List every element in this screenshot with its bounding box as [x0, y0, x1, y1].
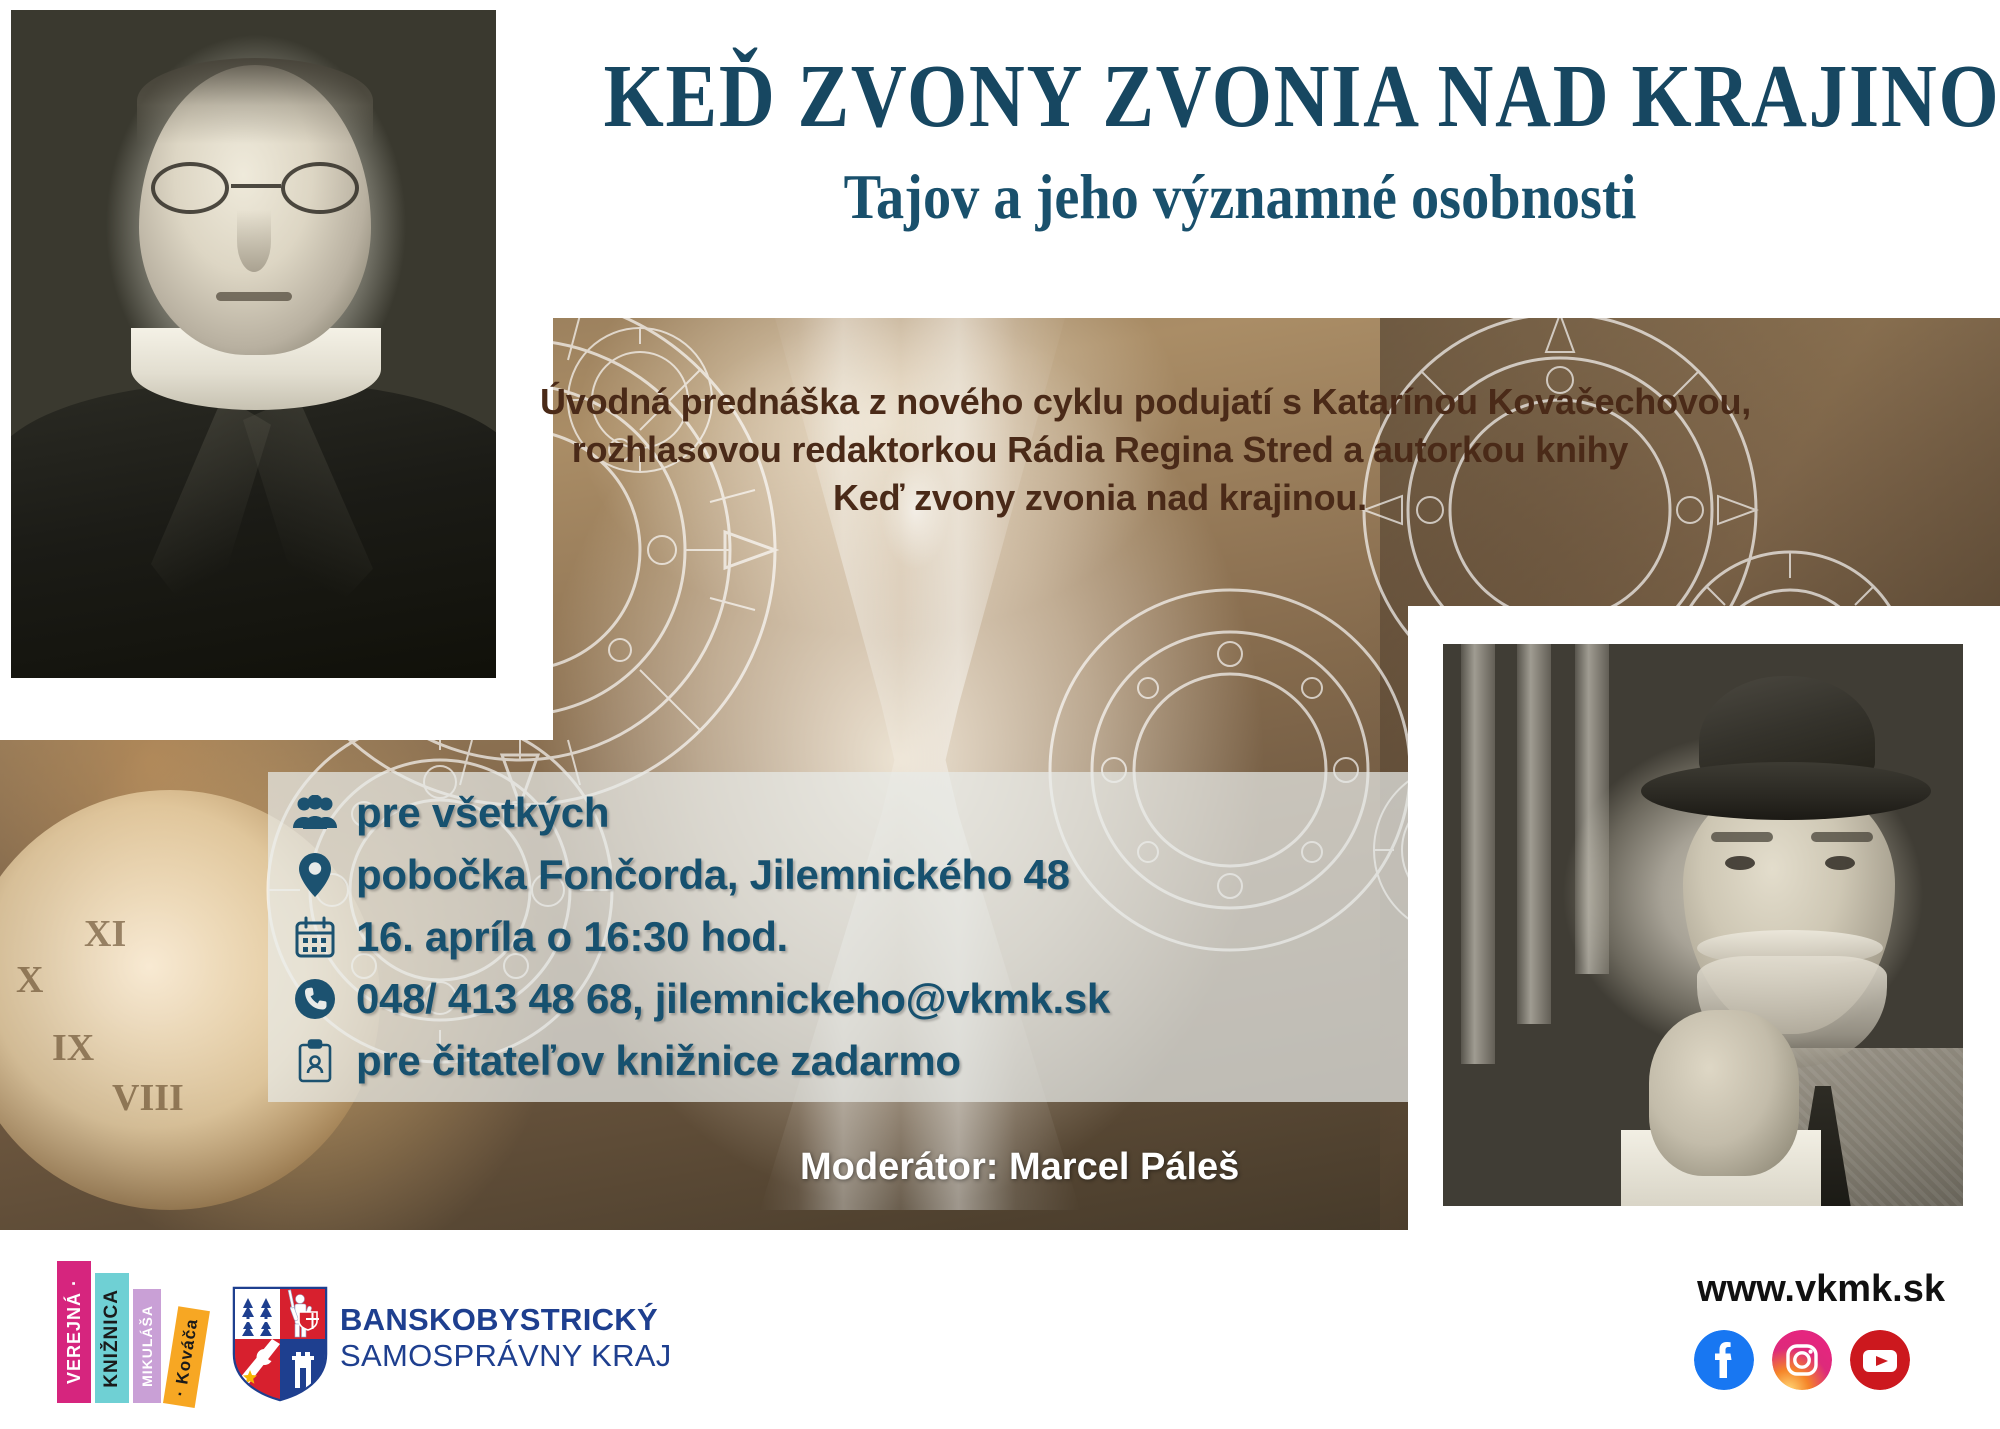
youtube-icon[interactable]	[1850, 1330, 1910, 1390]
info-row-datetime: 16. apríla o 16:30 hod.	[292, 906, 1412, 968]
info-text-location: pobočka Fončorda, Jilemnického 48	[356, 851, 1070, 899]
location-pin-icon	[292, 852, 338, 898]
library-logo-book-2-label: KNIŽNICA	[101, 1289, 123, 1388]
website-url[interactable]: www.vkmk.sk	[1697, 1268, 1945, 1311]
page-title: KEĎ ZVONY ZVONIA NAD KRAJINOU	[604, 45, 1877, 148]
library-logo-book-2: KNIŽNICA	[95, 1273, 129, 1403]
people-icon	[292, 790, 338, 836]
bbsk-wordmark-line-1: BANSKOBYSTRICKÝ	[340, 1302, 672, 1338]
event-details-list: pre všetkých pobočka Fončorda, Jilemnick…	[292, 782, 1412, 1092]
instagram-icon[interactable]	[1772, 1330, 1832, 1390]
info-row-price: pre čitateľov knižnice zadarmo	[292, 1030, 1412, 1092]
library-logo-book-1: VEREJNÁ ·	[57, 1261, 91, 1403]
facebook-icon[interactable]	[1694, 1330, 1754, 1390]
description-line-3: Keď zvony zvonia nad krajinou.	[540, 474, 1660, 522]
page-subtitle: Tajov a jeho významné osobnosti	[589, 160, 1891, 234]
library-logo-book-1-label: VEREJNÁ ·	[64, 1279, 85, 1384]
library-logo-book-3: MIKULÁŠA	[133, 1289, 161, 1403]
info-row-audience: pre všetkých	[292, 782, 1412, 844]
info-row-contact: 048/ 413 48 68, jilemnickeho@vkmk.sk	[292, 968, 1412, 1030]
phone-icon	[292, 976, 338, 1022]
info-text-audience: pre všetkých	[356, 789, 609, 837]
library-logo-book-4-label: · Kováča	[170, 1317, 202, 1398]
social-links	[1694, 1330, 1910, 1390]
info-row-location: pobočka Fončorda, Jilemnického 48	[292, 844, 1412, 906]
bbsk-crest-icon	[232, 1286, 328, 1402]
library-logo-book-3-label: MIKULÁŠA	[139, 1305, 155, 1387]
bbsk-wordmark: BANSKOBYSTRICKÝ SAMOSPRÁVNY KRAJ	[340, 1302, 672, 1374]
calendar-icon	[292, 914, 338, 960]
description-line-2: rozhlasovou redaktorkou Rádia Regina Str…	[540, 426, 1660, 474]
moderator-label: Moderátor: Marcel Páleš	[800, 1146, 1420, 1189]
portrait-photo-left	[11, 10, 496, 678]
info-text-contact: 048/ 413 48 68, jilemnickeho@vkmk.sk	[356, 975, 1110, 1023]
bbsk-wordmark-line-2: SAMOSPRÁVNY KRAJ	[340, 1338, 672, 1374]
description-paragraph: Úvodná prednáška z nového cyklu podujatí…	[540, 378, 1660, 523]
library-logo-book-4: · Kováča	[163, 1306, 210, 1408]
portrait-photo-right	[1443, 644, 1963, 1206]
info-text-price: pre čitateľov knižnice zadarmo	[356, 1037, 961, 1085]
id-card-icon	[292, 1038, 338, 1084]
info-text-datetime: 16. apríla o 16:30 hod.	[356, 913, 788, 961]
description-line-1: Úvodná prednáška z nového cyklu podujatí…	[540, 378, 1660, 426]
library-logo: VEREJNÁ · KNIŽNICA MIKULÁŠA · Kováča	[55, 1258, 220, 1403]
